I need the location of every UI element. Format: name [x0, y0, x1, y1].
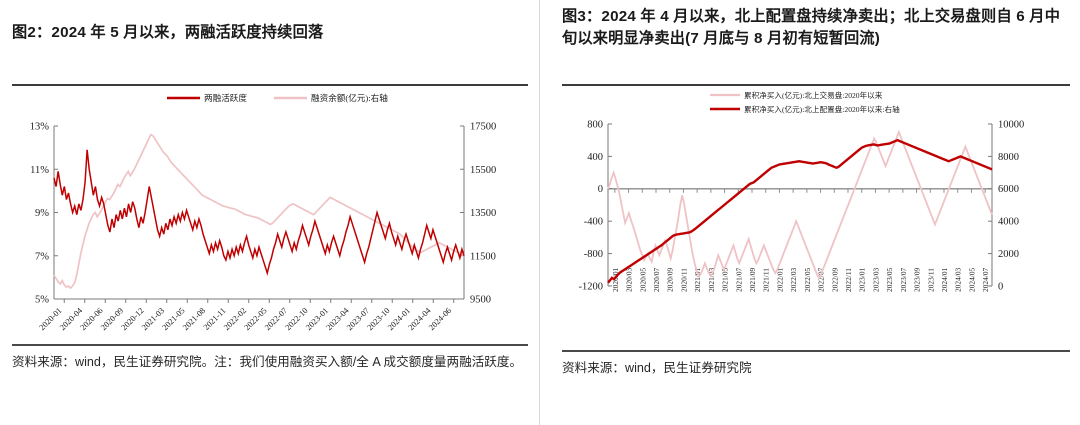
- chart-fig2-legend: 两融活跃度融资余额(亿元):右轴: [167, 92, 388, 103]
- svg-text:2021/11: 2021/11: [762, 268, 771, 292]
- svg-text:-1200: -1200: [579, 282, 604, 293]
- svg-text:400: 400: [587, 152, 603, 163]
- svg-text:11500: 11500: [470, 252, 496, 263]
- svg-text:2021/05: 2021/05: [721, 268, 730, 293]
- svg-text:9%: 9%: [35, 208, 49, 219]
- svg-text:2023/05: 2023/05: [885, 268, 894, 293]
- figure2-chart-area: 两融活跃度融资余额(亿元):右轴13%11%9%7%5%175001550013…: [12, 86, 528, 344]
- chart-fig3-series: [608, 132, 992, 283]
- chart-fig2-series: [54, 135, 464, 289]
- svg-text:2020/05: 2020/05: [638, 268, 647, 293]
- svg-text:两融活跃度: 两融活跃度: [204, 92, 247, 103]
- svg-text:8000: 8000: [998, 152, 1019, 163]
- chart-fig2: 两融活跃度融资余额(亿元):右轴13%11%9%7%5%175001550013…: [12, 86, 528, 344]
- figure2-title-wrap: 图2：2024 年 5 月以来，两融活跃度持续回落: [12, 0, 528, 84]
- svg-text:0: 0: [598, 184, 603, 195]
- svg-text:7%: 7%: [35, 252, 49, 263]
- svg-text:2022/11: 2022/11: [844, 268, 853, 292]
- figure3-title-wrap: 图3：2024 年 4 月以来，北上配置盘持续净卖出；北上交易盘则自 6 月中旬…: [562, 0, 1070, 84]
- svg-text:10000: 10000: [998, 120, 1024, 131]
- svg-text:2022/05: 2022/05: [803, 268, 812, 293]
- svg-text:2023/07: 2023/07: [899, 268, 908, 293]
- svg-text:4000: 4000: [998, 217, 1019, 228]
- svg-text:11%: 11%: [30, 165, 49, 176]
- svg-text:17500: 17500: [470, 122, 496, 133]
- svg-text:2021/09: 2021/09: [748, 268, 757, 293]
- svg-text:-400: -400: [584, 217, 603, 228]
- chart-fig3-legend: 累积净买入(亿元):北上交易盘:2020年以来累积净买入(亿元):北上配置盘:2…: [710, 90, 900, 114]
- svg-text:2022/03: 2022/03: [789, 268, 798, 293]
- svg-text:15500: 15500: [470, 165, 496, 176]
- svg-text:5%: 5%: [35, 295, 49, 306]
- svg-text:13%: 13%: [30, 122, 50, 133]
- svg-text:6000: 6000: [998, 184, 1019, 195]
- figure3-chart-area: 累积净买入(亿元):北上交易盘:2020年以来累积净买入(亿元):北上配置盘:2…: [562, 86, 1070, 350]
- svg-text:累积净买入(亿元):北上交易盘:2020年以来: 累积净买入(亿元):北上交易盘:2020年以来: [744, 90, 883, 100]
- svg-text:融资余额(亿元):右轴: 融资余额(亿元):右轴: [311, 92, 388, 103]
- svg-text:2020/01: 2020/01: [611, 268, 620, 293]
- figure3-panel: 图3：2024 年 4 月以来，北上配置盘持续净卖出；北上交易盘则自 6 月中旬…: [540, 0, 1080, 425]
- svg-text:2024/07: 2024/07: [981, 268, 990, 293]
- svg-text:2022/07: 2022/07: [817, 268, 826, 293]
- svg-text:2020/03: 2020/03: [625, 268, 634, 293]
- chart-fig3: 累积净买入(亿元):北上交易盘:2020年以来累积净买入(亿元):北上配置盘:2…: [562, 86, 1070, 350]
- svg-text:2023/09: 2023/09: [913, 268, 922, 293]
- svg-text:2023/11: 2023/11: [926, 268, 935, 292]
- svg-text:0: 0: [998, 282, 1003, 293]
- svg-text:2020/09: 2020/09: [666, 268, 675, 293]
- svg-text:2021/07: 2021/07: [734, 268, 743, 293]
- svg-text:2023/03: 2023/03: [871, 268, 880, 293]
- series-jiaoyi-pan: [608, 132, 992, 278]
- svg-text:2023/01: 2023/01: [858, 268, 867, 293]
- svg-text:2024/05: 2024/05: [967, 268, 976, 293]
- figure3-source: 资料来源：wind，民生证券研究院: [562, 352, 1070, 379]
- svg-text:累积净买入(亿元):北上配置盘:2020年以来:右轴: 累积净买入(亿元):北上配置盘:2020年以来:右轴: [744, 104, 900, 114]
- svg-text:2020/11: 2020/11: [679, 268, 688, 292]
- svg-text:2024-06: 2024-06: [427, 306, 453, 332]
- series-rongzi-yuer: [54, 135, 464, 289]
- figure2-source: 资料来源：wind，民生证券研究院。注：我们使用融资买入额/全 A 成交额度量两…: [12, 346, 528, 373]
- svg-text:-800: -800: [584, 249, 603, 260]
- chart-fig3-axes: 8004000-400-800-120010000800060004000200…: [579, 120, 1025, 293]
- series-lianrong-huoyuedu: [54, 150, 464, 273]
- svg-text:9500: 9500: [470, 295, 491, 306]
- figure3-title: 图3：2024 年 4 月以来，北上配置盘持续净卖出；北上交易盘则自 6 月中旬…: [562, 6, 1070, 50]
- svg-text:2024/01: 2024/01: [940, 268, 949, 293]
- figure2-title: 图2：2024 年 5 月以来，两融活跃度持续回落: [12, 22, 528, 44]
- svg-text:2024/03: 2024/03: [954, 268, 963, 293]
- svg-text:2020/07: 2020/07: [652, 268, 661, 293]
- figure2-panel: 图2：2024 年 5 月以来，两融活跃度持续回落 两融活跃度融资余额(亿元):…: [0, 0, 540, 425]
- series-peizhi-pan: [608, 140, 992, 283]
- svg-text:13500: 13500: [470, 208, 496, 219]
- svg-text:2000: 2000: [998, 249, 1019, 260]
- svg-text:2022/09: 2022/09: [830, 268, 839, 293]
- svg-text:800: 800: [587, 120, 603, 131]
- figure-pair-page: 图2：2024 年 5 月以来，两融活跃度持续回落 两融活跃度融资余额(亿元):…: [0, 0, 1080, 425]
